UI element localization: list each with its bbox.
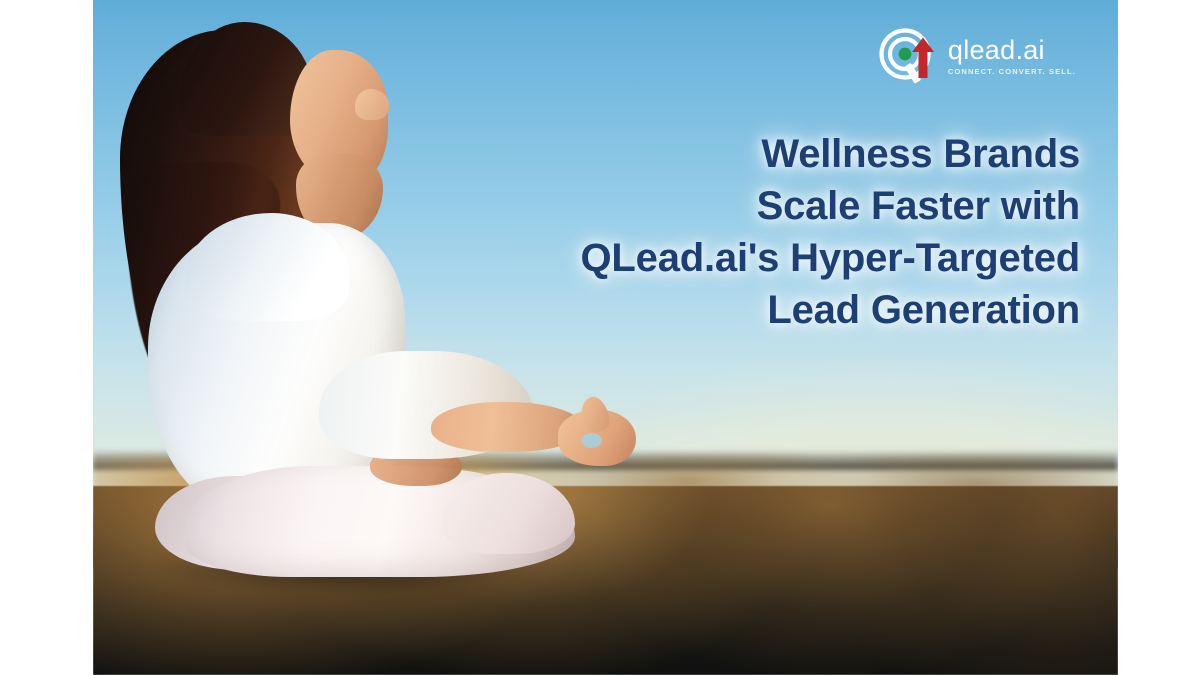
- headline-line-3: QLead.ai's Hyper-Targeted: [440, 232, 1080, 284]
- knee: [442, 473, 575, 554]
- headline-line-2: Scale Faster with: [440, 180, 1080, 232]
- logo-tagline: CONNECT. CONVERT. SELL.: [948, 68, 1076, 76]
- hero-banner: qlead.ai CONNECT. CONVERT. SELL. Wellnes…: [93, 0, 1118, 675]
- meditating-woman: [93, 0, 1118, 675]
- headline-line-1: Wellness Brands: [440, 128, 1080, 180]
- nose: [355, 89, 389, 120]
- logo-name: qlead.ai: [948, 37, 1076, 64]
- qlead-logo[interactable]: qlead.ai CONNECT. CONVERT. SELL.: [878, 28, 1076, 84]
- headline: Wellness Brands Scale Faster with QLead.…: [440, 128, 1080, 336]
- headline-line-4: Lead Generation: [440, 284, 1080, 336]
- logo-wordmark: qlead.ai CONNECT. CONVERT. SELL.: [948, 37, 1076, 76]
- q-target-arrow-icon: [878, 28, 940, 84]
